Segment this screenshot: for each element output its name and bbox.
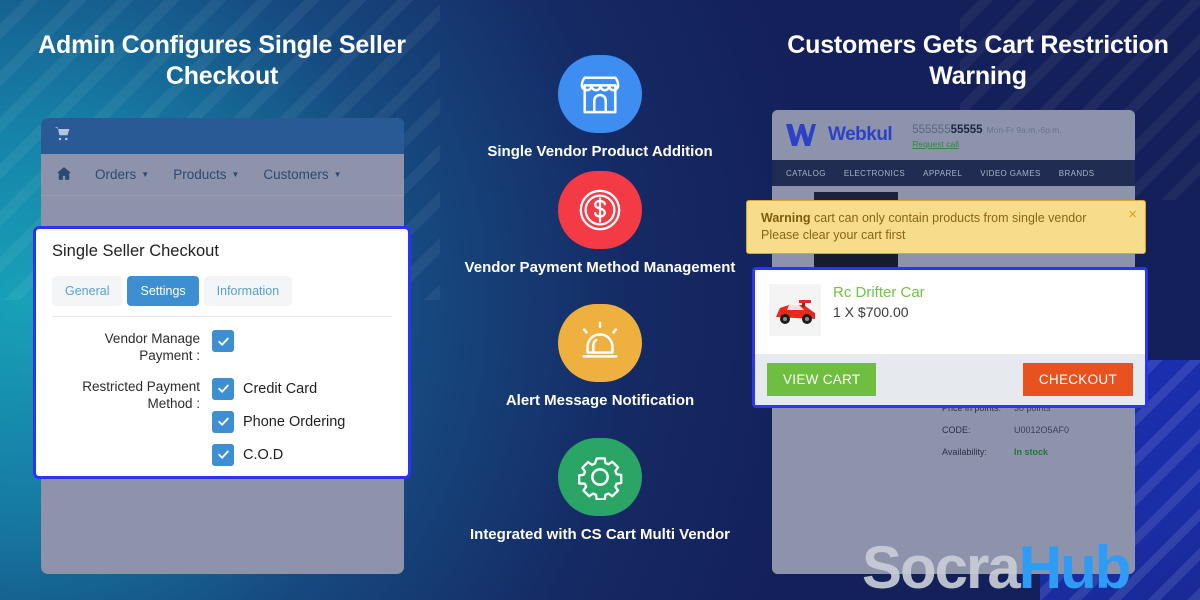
store-phone-block: 55555555555Mon-Fr 9a.m.-6p.m. Request ca… — [912, 120, 1061, 149]
checkbox-row-cod[interactable]: C.O.D — [212, 444, 392, 466]
warning-line-2: Please clear your cart first — [761, 227, 1117, 244]
red-rc-car-image — [769, 284, 821, 336]
alert-siren-icon — [558, 304, 642, 382]
chevron-down-icon: ▼ — [231, 170, 239, 179]
checkbox-cod-label: C.O.D — [243, 447, 283, 463]
right-column: Customers Gets Cart Restriction Warning … — [756, 0, 1200, 600]
feature-vendor-payment-method-management: Vendor Payment Method Management — [444, 171, 756, 278]
checkbox-phone-ordering-label: Phone Ordering — [243, 414, 345, 430]
checkout-button[interactable]: CHECKOUT — [1023, 363, 1133, 396]
store-nav[interactable]: CATALOG ELECTRONICS APPAREL VIDEO GAMES … — [772, 160, 1135, 186]
admin-menu-orders[interactable]: Orders ▼ — [95, 167, 149, 182]
cart-line-item: Rc Drifter Car 1 X $700.00 — [755, 270, 1145, 354]
webkul-logo-icon — [786, 124, 816, 146]
divider — [52, 316, 392, 317]
request-call-link[interactable]: Request call — [912, 140, 1061, 150]
admin-menubar[interactable]: Orders ▼ Products ▼ Customers ▼ — [41, 154, 404, 196]
cart-actions: VIEW CART CHECKOUT — [755, 354, 1145, 405]
watermark-part-b: Hub — [1019, 534, 1130, 600]
store-nav-catalog[interactable]: CATALOG — [786, 169, 826, 178]
chevron-down-icon: ▼ — [141, 170, 149, 179]
admin-menu-products-label: Products — [173, 167, 226, 182]
admin-menu-customers-label: Customers — [263, 167, 328, 182]
form-row-vendor-manage-payment: Vendor Manage Payment : — [52, 330, 392, 365]
cart-item-name[interactable]: Rc Drifter Car — [833, 284, 925, 301]
store-phone-number: 55555555555 — [912, 124, 982, 136]
left-panel-title: Admin Configures Single Seller Checkout — [22, 30, 422, 91]
checkbox-cod[interactable] — [212, 444, 234, 466]
detail-row-availability: Availability: In stock — [942, 447, 1135, 457]
checkbox-row-phone-ordering[interactable]: Phone Ordering — [212, 411, 392, 433]
form-row-restricted-payment-method: Restricted Payment Method : Credit Card … — [52, 378, 392, 466]
checkbox-row[interactable] — [212, 330, 392, 352]
watermark-part-a: Socra — [862, 534, 1019, 600]
center-features-column: Single Vendor Product Addition Vendor Pa… — [444, 0, 756, 600]
admin-menu-customers[interactable]: Customers ▼ — [263, 167, 341, 182]
tab-general[interactable]: General — [52, 276, 122, 306]
warning-text: cart can only contain products from sing… — [811, 211, 1087, 225]
view-cart-button[interactable]: VIEW CART — [767, 363, 876, 396]
admin-topbar — [41, 118, 404, 154]
webkul-logo-text: Webkul — [828, 124, 892, 146]
checkbox-phone-ordering[interactable] — [212, 411, 234, 433]
detail-key: Availability: — [942, 447, 1014, 457]
checkbox-vendor-manage-payment[interactable] — [212, 330, 234, 352]
storefront-icon — [558, 55, 642, 133]
feature-integrated-cs-cart-multi-vendor: Integrated with CS Cart Multi Vendor — [444, 438, 756, 545]
feature-label: Single Vendor Product Addition — [444, 143, 756, 162]
admin-menu-orders-label: Orders — [95, 167, 136, 182]
shopping-cart-icon — [55, 127, 70, 145]
vendor-manage-payment-label: Vendor Manage Payment : — [52, 330, 212, 365]
left-column: Admin Configures Single Seller Checkout … — [0, 0, 444, 600]
right-panel-title: Customers Gets Cart Restriction Warning — [778, 30, 1178, 91]
gear-icon — [558, 438, 642, 516]
detail-row-code: CODE: U0012O5AF0 — [942, 425, 1135, 435]
store-hours: Mon-Fr 9a.m.-6p.m. — [987, 125, 1062, 135]
chevron-down-icon: ▼ — [334, 170, 342, 179]
checkbox-credit-card[interactable] — [212, 378, 234, 400]
feature-single-vendor-product-addition: Single Vendor Product Addition — [444, 55, 756, 162]
tab-information[interactable]: Information — [204, 276, 293, 306]
store-nav-video-games[interactable]: VIDEO GAMES — [980, 169, 1040, 178]
dollar-coin-icon — [558, 171, 642, 249]
feature-alert-message-notification: Alert Message Notification — [444, 304, 756, 411]
close-icon: × — [1128, 207, 1137, 222]
warning-bold: Warning — [761, 211, 811, 225]
store-nav-electronics[interactable]: ELECTRONICS — [844, 169, 905, 178]
tab-bar[interactable]: General Settings Information — [52, 276, 392, 306]
feature-label: Vendor Payment Method Management — [444, 259, 756, 278]
feature-label: Alert Message Notification — [444, 392, 756, 411]
store-header: Webkul 55555555555Mon-Fr 9a.m.-6p.m. Req… — [772, 110, 1135, 160]
mini-cart-popup: Rc Drifter Car 1 X $700.00 VIEW CART CHE… — [752, 267, 1148, 408]
store-nav-brands[interactable]: BRANDS — [1059, 169, 1095, 178]
card-title: Single Seller Checkout — [52, 242, 392, 261]
cart-item-info: Rc Drifter Car 1 X $700.00 — [833, 284, 925, 320]
home-icon[interactable] — [57, 167, 71, 183]
detail-value: U0012O5AF0 — [1014, 425, 1069, 435]
store-nav-apparel[interactable]: APPAREL — [923, 169, 962, 178]
admin-menu-products[interactable]: Products ▼ — [173, 167, 239, 182]
detail-key: CODE: — [942, 425, 1014, 435]
status-badge: In stock — [1014, 447, 1048, 457]
cart-restriction-warning: × Warning cart can only contain products… — [746, 200, 1146, 254]
cart-item-qty-price: 1 X $700.00 — [833, 304, 925, 320]
restricted-payment-method-label: Restricted Payment Method : — [52, 378, 212, 466]
feature-label: Integrated with CS Cart Multi Vendor — [444, 526, 756, 545]
socrahub-watermark: SocraHub — [862, 538, 1129, 598]
checkbox-credit-card-label: Credit Card — [243, 381, 317, 397]
restricted-payment-method-control: Credit Card Phone Ordering C.O.D — [212, 378, 392, 466]
checkbox-row-credit-card[interactable]: Credit Card — [212, 378, 392, 400]
tab-settings[interactable]: Settings — [127, 276, 198, 306]
single-seller-checkout-card: Single Seller Checkout General Settings … — [33, 226, 411, 479]
vendor-manage-payment-control — [212, 330, 392, 365]
warning-line-1: Warning cart can only contain products f… — [761, 210, 1117, 227]
